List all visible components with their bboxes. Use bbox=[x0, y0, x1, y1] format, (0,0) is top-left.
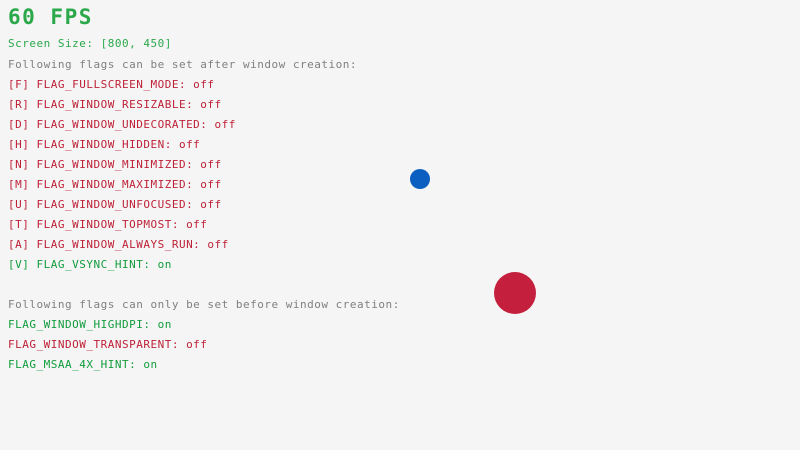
flag-row-flag-window-minimized[interactable]: [N] FLAG_WINDOW_MINIMIZED: off bbox=[8, 159, 222, 170]
flag-row-flag-window-undecorated[interactable]: [D] FLAG_WINDOW_UNDECORATED: off bbox=[8, 119, 236, 130]
flag-row-flag-window-topmost[interactable]: [T] FLAG_WINDOW_TOPMOST: off bbox=[8, 219, 207, 230]
flag-row-flag-window-always-run[interactable]: [A] FLAG_WINDOW_ALWAYS_RUN: off bbox=[8, 239, 229, 250]
red-ball-shape bbox=[494, 272, 536, 314]
section-header-after-creation: Following flags can be set after window … bbox=[8, 59, 357, 70]
flag-row-flag-window-transparent[interactable]: FLAG_WINDOW_TRANSPARENT: off bbox=[8, 339, 207, 350]
flag-row-flag-window-maximized[interactable]: [M] FLAG_WINDOW_MAXIMIZED: off bbox=[8, 179, 222, 190]
blue-ball-shape bbox=[410, 169, 430, 189]
flag-row-flag-fullscreen-mode[interactable]: [F] FLAG_FULLSCREEN_MODE: off bbox=[8, 79, 215, 90]
flag-row-flag-vsync-hint[interactable]: [V] FLAG_VSYNC_HINT: on bbox=[8, 259, 172, 270]
screen-size-label: Screen Size: [800, 450] bbox=[8, 38, 172, 49]
flag-row-flag-window-hidden[interactable]: [H] FLAG_WINDOW_HIDDEN: off bbox=[8, 139, 200, 150]
section-header-before-creation: Following flags can only be set before w… bbox=[8, 299, 400, 310]
flag-row-flag-window-unfocused[interactable]: [U] FLAG_WINDOW_UNFOCUSED: off bbox=[8, 199, 222, 210]
flag-row-flag-msaa-4x-hint[interactable]: FLAG_MSAA_4X_HINT: on bbox=[8, 359, 158, 370]
flag-row-flag-window-highdpi[interactable]: FLAG_WINDOW_HIGHDPI: on bbox=[8, 319, 172, 330]
raylib-window-canvas: 60 FPS Screen Size: [800, 450] Following… bbox=[0, 0, 800, 450]
flag-row-flag-window-resizable[interactable]: [R] FLAG_WINDOW_RESIZABLE: off bbox=[8, 99, 222, 110]
fps-counter: 60 FPS bbox=[8, 7, 93, 28]
